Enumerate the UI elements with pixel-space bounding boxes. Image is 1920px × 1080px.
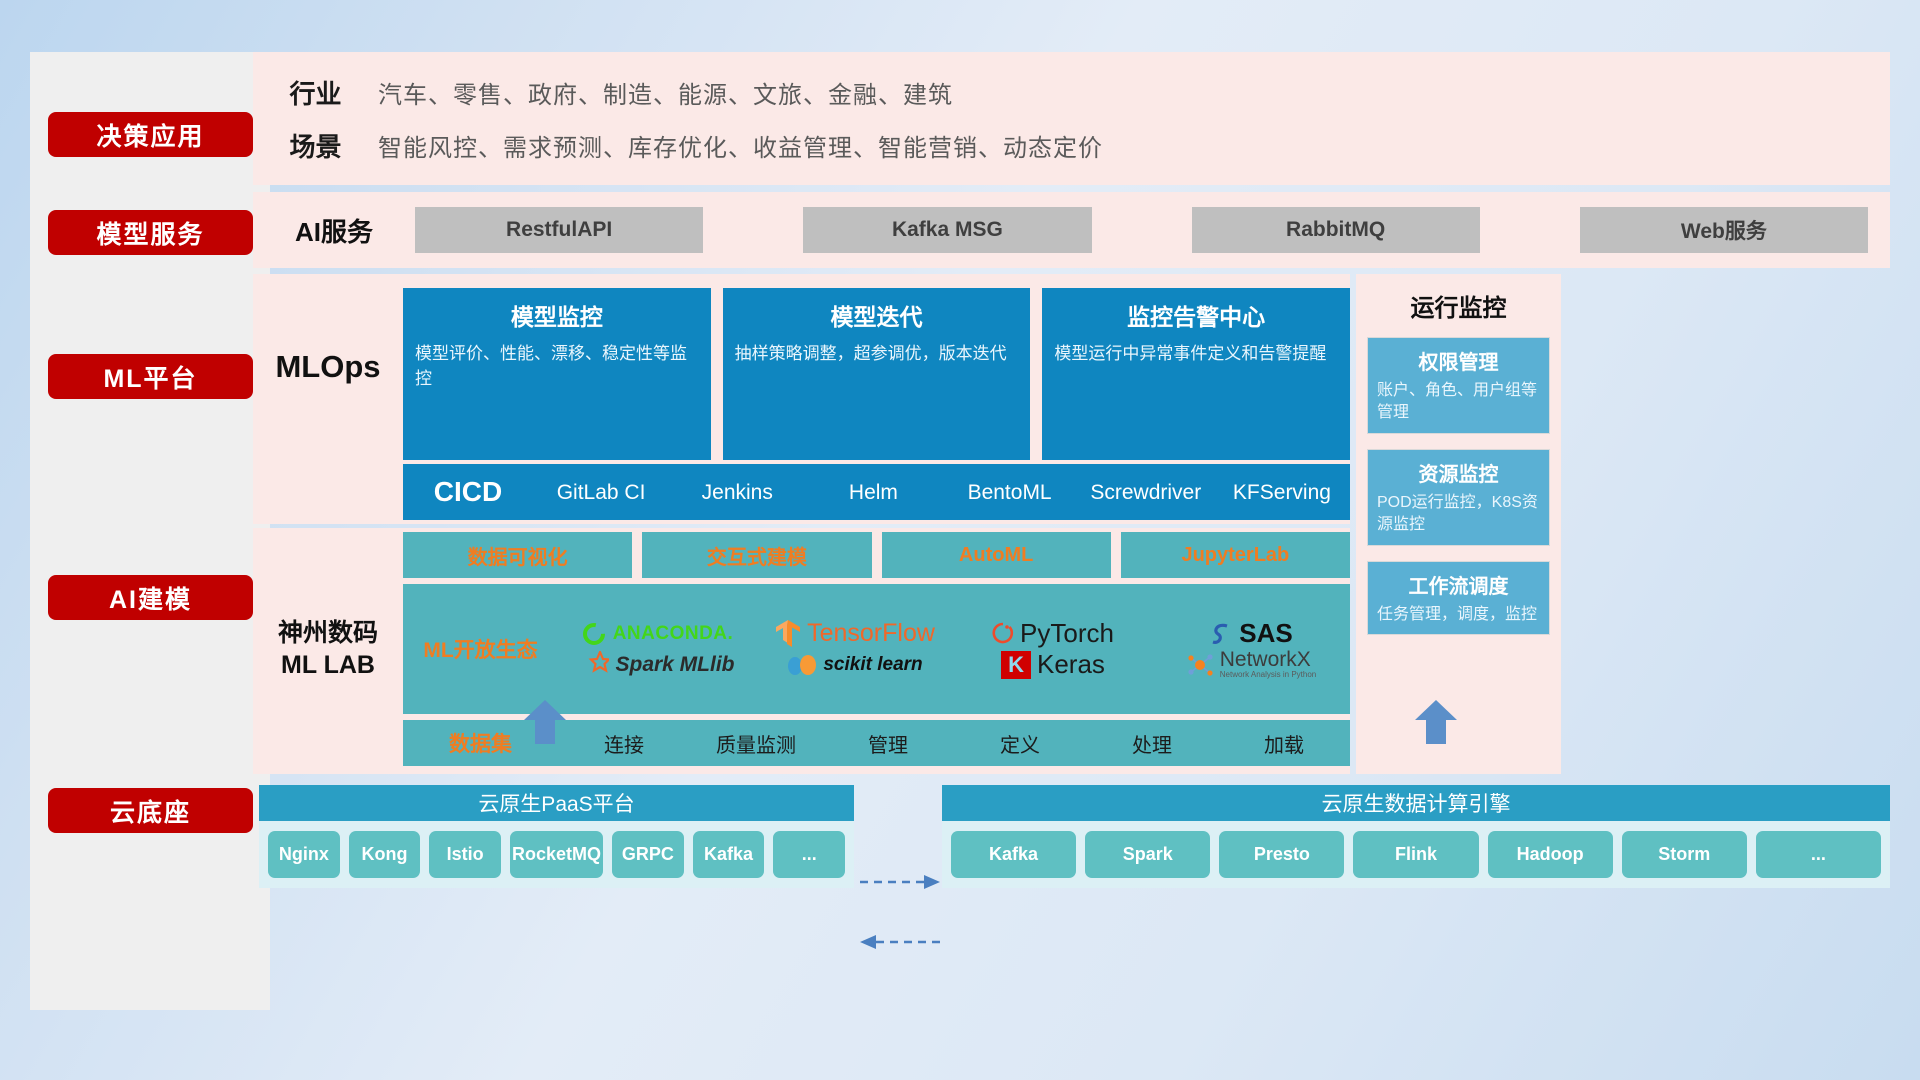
- rail-item-label: 云底座: [110, 793, 191, 829]
- ai-service-label: AI服务: [253, 212, 415, 249]
- chip-istio[interactable]: Istio: [429, 831, 501, 878]
- chip-flink[interactable]: Flink: [1353, 831, 1478, 878]
- mlops-card-desc: 模型评价、性能、漂移、稳定性等监控: [415, 342, 699, 391]
- chip-label: Storm: [1658, 845, 1710, 864]
- monitor-card-desc: 账户、角色、用户组等管理: [1377, 380, 1540, 425]
- chip-kafka[interactable]: Kafka: [951, 831, 1076, 878]
- runtime-monitoring-panel: 运行监控 权限管理 账户、角色、用户组等管理 资源监控 POD运行监控，K8S资…: [1356, 274, 1561, 774]
- scikit-learn-logo: scikit learn: [756, 652, 954, 678]
- chip-nginx[interactable]: Nginx: [268, 831, 340, 878]
- scenario-label: 场景: [253, 127, 378, 164]
- monitor-card-desc: 任务管理，调度，监控: [1377, 604, 1540, 626]
- rail-item-model-service[interactable]: 模型服务: [48, 210, 253, 255]
- pytorch-logo: PyTorch: [954, 618, 1152, 649]
- cicd-item-bentoml[interactable]: BentoML: [942, 482, 1078, 503]
- lab-tab-label: 数据可视化: [468, 541, 568, 570]
- ml-open-ecosystem: ML开放生态 ANACONDA. TensorFlow: [403, 584, 1350, 714]
- cicd-strip: CICD GitLab CI Jenkins Helm BentoML Scre…: [403, 464, 1350, 520]
- sas-icon: [1209, 621, 1233, 647]
- chip-label: Spark: [1123, 845, 1173, 864]
- dataset-item-define[interactable]: 定义: [954, 729, 1086, 758]
- scikit-learn-icon: [787, 652, 817, 678]
- networkx-icon: [1186, 652, 1214, 678]
- industry-row: 行业 汽车、零售、政府、制造、能源、文旅、金融、建筑: [253, 66, 1890, 119]
- sas-label: SAS: [1239, 618, 1292, 649]
- monitor-card-title: 权限管理: [1377, 346, 1540, 375]
- left-stage-rail: 决策应用 模型服务 ML平台 AI建模 云底座: [30, 52, 270, 1010]
- rail-item-ml-platform[interactable]: ML平台: [48, 354, 253, 399]
- lab-tab-data-visualization[interactable]: 数据可视化: [403, 532, 632, 578]
- scenario-row: 场景 智能风控、需求预测、库存优化、收益管理、智能营销、动态定价: [253, 119, 1890, 172]
- cloud-native-data-engine-block: 云原生数据计算引擎 Kafka Spark Presto Flink Hadoo…: [942, 785, 1890, 888]
- mlops-card-title: 模型监控: [415, 298, 699, 332]
- rail-item-ai-modeling[interactable]: AI建模: [48, 575, 253, 620]
- ai-service-item-kafka-msg[interactable]: Kafka MSG: [803, 207, 1091, 253]
- chip-hadoop[interactable]: Hadoop: [1488, 831, 1613, 878]
- dataset-item-process[interactable]: 处理: [1086, 729, 1218, 758]
- chip-label: Kafka: [704, 845, 753, 864]
- decision-applications-panel: 行业 汽车、零售、政府、制造、能源、文旅、金融、建筑 场景 智能风控、需求预测、…: [253, 52, 1890, 185]
- lab-tab-automl[interactable]: AutoML: [882, 532, 1111, 578]
- chip-kafka[interactable]: Kafka: [693, 831, 765, 878]
- tensorflow-logo: TensorFlow: [756, 619, 954, 649]
- dataset-item-quality[interactable]: 质量监测: [690, 729, 822, 758]
- chip-label: Flink: [1395, 845, 1437, 864]
- lab-tab-label: AutoML: [959, 544, 1033, 567]
- monitor-card-title: 资源监控: [1377, 458, 1540, 487]
- chip-rocketmq[interactable]: RocketMQ: [510, 831, 603, 878]
- cloud-native-paas-block: 云原生PaaS平台 Nginx Kong Istio RocketMQ GRPC…: [259, 785, 854, 888]
- dataset-item-manage[interactable]: 管理: [822, 729, 954, 758]
- chip-label: Istio: [447, 845, 484, 864]
- mlops-card-desc: 模型运行中异常事件定义和告警提醒: [1054, 342, 1338, 367]
- ai-service-item-restfulapi[interactable]: RestfulAPI: [415, 207, 703, 253]
- chip-more[interactable]: ...: [1756, 831, 1881, 878]
- up-arrow-paas-icon: [522, 700, 568, 744]
- chip-more[interactable]: ...: [773, 831, 845, 878]
- rail-item-cloud-base[interactable]: 云底座: [48, 788, 253, 833]
- mlops-card-model-monitoring[interactable]: 模型监控 模型评价、性能、漂移、稳定性等监控: [403, 288, 711, 460]
- anaconda-icon: [581, 621, 607, 647]
- mlops-card-desc: 抽样策略调整，超参调优，版本迭代: [735, 342, 1019, 367]
- chip-grpc[interactable]: GRPC: [612, 831, 684, 878]
- networkx-sub: Network Analysis in Python: [1220, 671, 1317, 679]
- cicd-item-screwdriver[interactable]: Screwdriver: [1078, 482, 1214, 503]
- rail-item-label: 决策应用: [96, 117, 204, 153]
- chip-label: Presto: [1254, 845, 1310, 864]
- chip-label: ...: [802, 845, 817, 864]
- cicd-item-kfserving[interactable]: KFServing: [1214, 482, 1350, 503]
- spark-icon: [579, 651, 609, 679]
- ai-service-item-rabbitmq[interactable]: RabbitMQ: [1192, 207, 1480, 253]
- scikit-learn-label: scikit learn: [823, 654, 922, 676]
- cicd-item-list: GitLab CI Jenkins Helm BentoML Screwdriv…: [533, 482, 1350, 503]
- runtime-monitoring-title: 运行监控: [1367, 288, 1550, 323]
- pytorch-icon: [992, 621, 1014, 647]
- anaconda-logo: ANACONDA.: [558, 621, 756, 647]
- chip-label: Nginx: [279, 845, 329, 864]
- ecosystem-logo-grid: ANACONDA. TensorFlow: [558, 618, 1350, 680]
- industry-label: 行业: [253, 74, 378, 111]
- mlops-card-title: 模型迭代: [735, 298, 1019, 332]
- rail-item-label: AI建模: [109, 580, 192, 616]
- anaconda-label: ANACONDA.: [613, 623, 734, 645]
- cicd-title: CICD: [403, 476, 533, 508]
- rail-item-label: ML平台: [103, 359, 197, 395]
- spark-mllib-logo: Spark MLlib: [558, 651, 756, 679]
- cloud-native-data-engine-chips: Kafka Spark Presto Flink Hadoop Storm ..…: [942, 821, 1890, 888]
- tensorflow-label: TensorFlow: [807, 619, 935, 648]
- ai-service-item-label: RestfulAPI: [506, 218, 612, 242]
- chip-kong[interactable]: Kong: [349, 831, 421, 878]
- mlops-card-list: 模型监控 模型评价、性能、漂移、稳定性等监控 模型迭代 抽样策略调整，超参调优，…: [403, 274, 1350, 460]
- lab-tab-interactive-modeling[interactable]: 交互式建模: [642, 532, 871, 578]
- ml-lab-label-line2: ML LAB: [281, 649, 375, 682]
- ml-open-ecosystem-label: ML开放生态: [403, 634, 558, 664]
- dataset-item-load[interactable]: 加载: [1218, 729, 1350, 758]
- pytorch-label: PyTorch: [1020, 618, 1114, 649]
- ml-lab-label-line1: 神州数码: [278, 617, 378, 650]
- lab-tab-label: 交互式建模: [707, 541, 807, 570]
- keras-label: Keras: [1037, 649, 1105, 680]
- networkx-logo: NetworkX Network Analysis in Python: [1152, 649, 1350, 679]
- chip-spark[interactable]: Spark: [1085, 831, 1210, 878]
- up-arrow-data-engine-icon: [1413, 700, 1459, 744]
- industry-values: 汽车、零售、政府、制造、能源、文旅、金融、建筑: [378, 75, 953, 110]
- mlops-card-title: 监控告警中心: [1054, 298, 1338, 332]
- monitor-card-title: 工作流调度: [1377, 570, 1540, 599]
- cloud-native-data-engine-title: 云原生数据计算引擎: [942, 785, 1890, 821]
- sas-logo: SAS: [1152, 618, 1350, 649]
- chip-label: Hadoop: [1517, 845, 1584, 864]
- mlops-card-model-iteration[interactable]: 模型迭代 抽样策略调整，超参调优，版本迭代: [723, 288, 1031, 460]
- ai-service-item-label: Web服务: [1681, 215, 1767, 245]
- lab-tab-jupyterlab[interactable]: JupyterLab: [1121, 532, 1350, 578]
- ai-service-list: RestfulAPI Kafka MSG RabbitMQ Web服务: [415, 207, 1890, 253]
- chip-presto[interactable]: Presto: [1219, 831, 1344, 878]
- bidirectional-link-arrows: [858, 860, 942, 970]
- rail-item-label: 模型服务: [96, 215, 204, 251]
- ml-lab-panel: 神州数码 ML LAB 数据可视化 交互式建模 AutoML JupyterLa…: [253, 524, 1350, 774]
- cicd-item-gitlab-ci[interactable]: GitLab CI: [533, 482, 669, 503]
- ml-lab-label: 神州数码 ML LAB: [253, 524, 403, 774]
- networkx-label: NetworkX: [1220, 649, 1317, 671]
- cloud-native-paas-title: 云原生PaaS平台: [259, 785, 854, 821]
- ml-lab-tab-list: 数据可视化 交互式建模 AutoML JupyterLab: [403, 532, 1350, 578]
- dataset-item-connect[interactable]: 连接: [558, 729, 690, 758]
- mlops-panel: MLOps 模型监控 模型评价、性能、漂移、稳定性等监控 模型迭代 抽样策略调整…: [253, 274, 1350, 460]
- mlops-label: MLOps: [253, 274, 403, 460]
- ai-service-item-web[interactable]: Web服务: [1580, 207, 1868, 253]
- ai-service-panel: AI服务 RestfulAPI Kafka MSG RabbitMQ Web服务: [253, 192, 1890, 268]
- chip-label: RocketMQ: [512, 845, 601, 864]
- lab-tab-label: JupyterLab: [1181, 544, 1289, 567]
- tensorflow-icon: [775, 619, 801, 649]
- chip-label: GRPC: [622, 845, 674, 864]
- monitor-card-desc: POD运行监控，K8S资源监控: [1377, 492, 1540, 537]
- dataset-item-list: 连接 质量监测 管理 定义 处理 加载: [558, 729, 1350, 758]
- scenario-values: 智能风控、需求预测、库存优化、收益管理、智能营销、动态定价: [378, 128, 1103, 163]
- monitor-card-resource[interactable]: 资源监控 POD运行监控，K8S资源监控: [1367, 449, 1550, 546]
- cloud-native-paas-chips: Nginx Kong Istio RocketMQ GRPC Kafka ...: [259, 821, 854, 888]
- keras-mark: K: [1001, 651, 1031, 679]
- chip-label: Kafka: [989, 845, 1038, 864]
- chip-storm[interactable]: Storm: [1622, 831, 1747, 878]
- keras-logo: K Keras: [954, 649, 1152, 680]
- mlops-card-alert-center[interactable]: 监控告警中心 模型运行中异常事件定义和告警提醒: [1042, 288, 1350, 460]
- spark-mllib-label: Spark MLlib: [615, 653, 734, 677]
- chip-label: Kong: [362, 845, 408, 864]
- monitor-card-permission[interactable]: 权限管理 账户、角色、用户组等管理: [1367, 337, 1550, 434]
- cicd-item-jenkins[interactable]: Jenkins: [669, 482, 805, 503]
- chip-label: ...: [1811, 845, 1826, 864]
- ai-service-item-label: Kafka MSG: [892, 218, 1003, 242]
- ai-service-item-label: RabbitMQ: [1286, 218, 1385, 242]
- rail-item-decision[interactable]: 决策应用: [48, 112, 253, 157]
- monitor-card-workflow[interactable]: 工作流调度 任务管理，调度，监控: [1367, 561, 1550, 635]
- cicd-item-helm[interactable]: Helm: [805, 482, 941, 503]
